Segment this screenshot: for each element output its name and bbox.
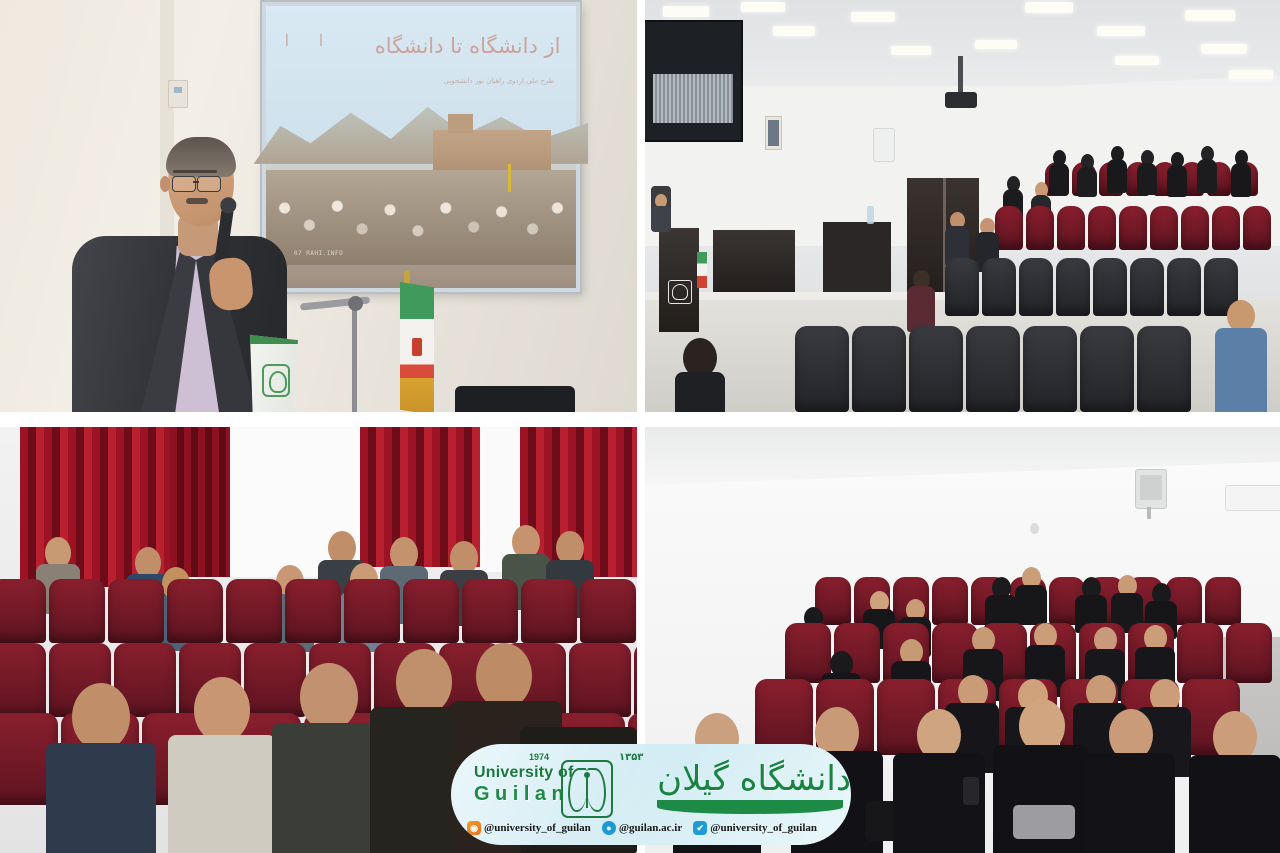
wall-speaker (1135, 469, 1167, 509)
ceiling-light (1229, 70, 1273, 79)
ceiling-light (1185, 10, 1235, 21)
ceiling-light (773, 26, 815, 36)
ceiling-light (663, 6, 709, 17)
seat (1181, 206, 1209, 250)
telegram-icon: ✔ (693, 821, 707, 835)
seat (108, 579, 164, 643)
seat (1150, 206, 1178, 250)
seat (403, 579, 459, 643)
seat (226, 579, 282, 643)
seat (569, 643, 631, 717)
speaker-hand (207, 256, 254, 312)
seat (852, 326, 906, 412)
seat (344, 579, 400, 643)
ceiling-light (741, 2, 785, 12)
speaker-ear (160, 176, 170, 192)
audience-person (1107, 146, 1127, 192)
calligraphy-swoosh (657, 800, 843, 814)
ceiling-light (975, 40, 1017, 49)
instagram-handle: @university_of_guilan (484, 822, 591, 834)
projection-screen (645, 22, 741, 140)
social-item-website[interactable]: ● @guilan.ac.ir (602, 821, 682, 835)
audience-person (1231, 150, 1251, 196)
logo-stem (586, 778, 588, 808)
ceiling-light (1115, 56, 1159, 65)
folder (1013, 805, 1075, 839)
audience-person (1197, 146, 1217, 192)
photo-top-right-auditorium (645, 0, 1280, 412)
seat (909, 326, 963, 412)
globe-icon: ● (602, 821, 616, 835)
wall-sensor (1030, 523, 1039, 534)
slide-flag-mark-1: ا (285, 31, 289, 51)
flag-gold-band (400, 378, 434, 412)
speaker-torso (651, 206, 671, 232)
mic-stand-knob (348, 296, 363, 311)
audience-person (1137, 150, 1157, 194)
seat (0, 643, 46, 717)
seat (0, 579, 46, 643)
seat (462, 579, 518, 643)
ceiling-light (1025, 2, 1073, 13)
seat (1137, 326, 1191, 412)
water-bottle (867, 206, 874, 224)
university-flag (250, 335, 298, 412)
seat (1177, 623, 1223, 683)
audience-person-foreground (1215, 300, 1267, 412)
seat (1056, 258, 1090, 316)
speaker-eyebrows (173, 170, 217, 173)
eyeglass-bridge (193, 181, 199, 183)
air-conditioner (873, 128, 895, 162)
slide-watermark: 07 RAHI.INFO (294, 250, 343, 257)
founding-year-gregorian: 1974 (529, 752, 549, 762)
slide-subtitle: طرح ملی اردوی راهیان نور دانشجویی (444, 77, 555, 85)
eyeglass-left (172, 176, 196, 192)
chair (455, 386, 575, 412)
seat (167, 579, 223, 643)
founding-year-persian: ۱۳۵۳ (619, 752, 643, 763)
seat-row-front (795, 326, 1191, 412)
iran-flag-emblem (412, 338, 422, 357)
red-curtain (170, 427, 230, 577)
seat (580, 579, 636, 643)
university-name-line2: Guilan (474, 783, 569, 806)
flag-emblem (262, 364, 291, 397)
seat (1080, 326, 1134, 412)
seat (982, 258, 1016, 316)
seat (634, 643, 637, 717)
seat (966, 326, 1020, 412)
social-item-instagram[interactable]: ◉ @university_of_guilan (467, 821, 591, 835)
social-links: ◉ @university_of_guilan ● @guilan.ac.ir … (467, 821, 817, 835)
seat-row (995, 206, 1271, 250)
seat (1130, 258, 1164, 316)
seat (995, 206, 1023, 250)
university-logo-icon (561, 760, 613, 818)
audience-person (1049, 150, 1069, 194)
seat-row (0, 579, 637, 643)
photo-top-left-speaker: ا ا از دانشگاه تا دانشگاه طرح ملی اردوی … (0, 0, 637, 412)
ceiling-projector (945, 92, 977, 108)
speaker-moustache (186, 198, 208, 204)
slide-title: از دانشگاه تا دانشگاه (375, 34, 561, 58)
audience-person (1015, 567, 1047, 623)
ceiling-light (891, 46, 931, 55)
seat (1093, 258, 1127, 316)
seat (795, 326, 849, 412)
wall-portrait (765, 116, 782, 150)
seat (1019, 258, 1053, 316)
projected-slide: ا ا از دانشگاه تا دانشگاه طرح ملی اردوی … (266, 6, 576, 288)
slide-yellow-flag (508, 164, 511, 192)
seat (932, 577, 968, 625)
audience-person-foreground (675, 338, 725, 412)
seat (521, 579, 577, 643)
iran-flag (400, 282, 434, 412)
university-name-line1: University of (474, 764, 574, 782)
seat (1167, 258, 1201, 316)
eyeglass-right (197, 176, 221, 192)
audience-person-front (1085, 709, 1175, 853)
wall-speaker-bracket (1147, 507, 1151, 519)
audience-person-front (46, 683, 156, 853)
seat (945, 258, 979, 316)
projector-mount (958, 56, 963, 94)
audience-person (1167, 152, 1187, 196)
mic-stand-pole (352, 305, 357, 412)
seat (1026, 206, 1054, 250)
seat (1088, 206, 1116, 250)
audience-person-front (272, 663, 384, 853)
audience-person-front (168, 677, 276, 853)
seat (1205, 577, 1241, 625)
side-cabinet (823, 222, 891, 298)
audience-person (907, 270, 935, 330)
seat (1057, 206, 1085, 250)
social-item-telegram[interactable]: ✔ @university_of_guilan (693, 821, 817, 835)
audience-person-front (1189, 711, 1280, 853)
seat (1023, 326, 1077, 412)
university-branding-banner: 1974 ۱۳۵۳ University of Guilan دانشگاه گ… (451, 744, 851, 845)
ceiling-light (1201, 44, 1247, 54)
photo-collage: ا ا از دانشگاه تا دانشگاه طرح ملی اردوی … (0, 0, 1280, 853)
seat-row (945, 258, 1238, 316)
seat (1212, 206, 1240, 250)
seat (1119, 206, 1147, 250)
ceiling-light (1097, 26, 1145, 36)
university-monogram-icon (668, 280, 692, 304)
slide-flag-mark-2: ا (319, 31, 323, 51)
seat (49, 579, 105, 643)
instagram-icon: ◉ (467, 821, 481, 835)
website-handle: @guilan.ac.ir (619, 822, 682, 834)
telegram-handle: @university_of_guilan (710, 822, 817, 834)
audience-person (945, 212, 969, 264)
seat (1243, 206, 1271, 250)
air-conditioner (1225, 485, 1280, 511)
stage-desk (713, 230, 795, 292)
light-switch (168, 80, 188, 108)
seat (285, 579, 341, 643)
mobile-phone (963, 777, 979, 805)
audience-person (1077, 154, 1097, 196)
speaker-person (651, 186, 671, 232)
podium (659, 228, 699, 332)
seat (1226, 623, 1272, 683)
ceiling-light (851, 12, 895, 22)
iran-flag (697, 252, 707, 288)
